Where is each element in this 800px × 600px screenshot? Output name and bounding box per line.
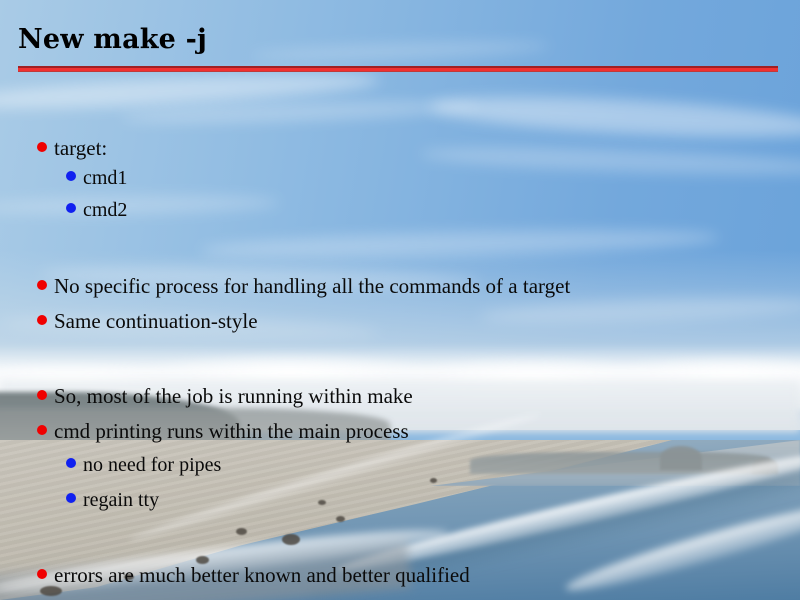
bullet-item-level1: cmd printing runs within the main proces… <box>37 419 409 444</box>
bullet-dot-blue-icon <box>66 493 76 503</box>
bullet-item-level1: So, most of the job is running within ma… <box>37 384 413 409</box>
bullet-dot-blue-icon <box>66 171 76 181</box>
bullet-item-level1: errors are much better known and better … <box>37 563 470 588</box>
bullet-item-level1: target: <box>37 136 107 161</box>
bullet-dot-blue-icon <box>66 458 76 468</box>
bullet-item-level2: cmd1 <box>66 167 127 190</box>
bullet-text: errors are much better known and better … <box>54 563 470 588</box>
bullet-text: Same continuation-style <box>54 309 258 334</box>
bullet-item-level1: No specific process for handling all the… <box>37 274 570 299</box>
bullet-item-level1: Same continuation-style <box>37 309 258 334</box>
bullet-item-level2: no need for pipes <box>66 454 221 477</box>
slide-body: target:cmd1cmd2No specific process for h… <box>0 0 800 600</box>
bullet-text: target: <box>54 136 107 161</box>
bullet-text: So, most of the job is running within ma… <box>54 384 413 409</box>
bullet-dot-blue-icon <box>66 203 76 213</box>
bullet-text: regain tty <box>83 489 159 512</box>
bullet-dot-red-icon <box>37 315 47 325</box>
bullet-dot-red-icon <box>37 390 47 400</box>
bullet-text: No specific process for handling all the… <box>54 274 570 299</box>
bullet-item-level2: regain tty <box>66 489 159 512</box>
bullet-text: cmd2 <box>83 199 127 222</box>
bullet-dot-red-icon <box>37 569 47 579</box>
bullet-dot-red-icon <box>37 280 47 290</box>
bullet-item-level2: cmd2 <box>66 199 127 222</box>
presentation-slide: New make -j target:cmd1cmd2No specific p… <box>0 0 800 600</box>
bullet-text: cmd printing runs within the main proces… <box>54 419 409 444</box>
bullet-dot-red-icon <box>37 142 47 152</box>
bullet-text: no need for pipes <box>83 454 221 477</box>
bullet-dot-red-icon <box>37 425 47 435</box>
bullet-text: cmd1 <box>83 167 127 190</box>
